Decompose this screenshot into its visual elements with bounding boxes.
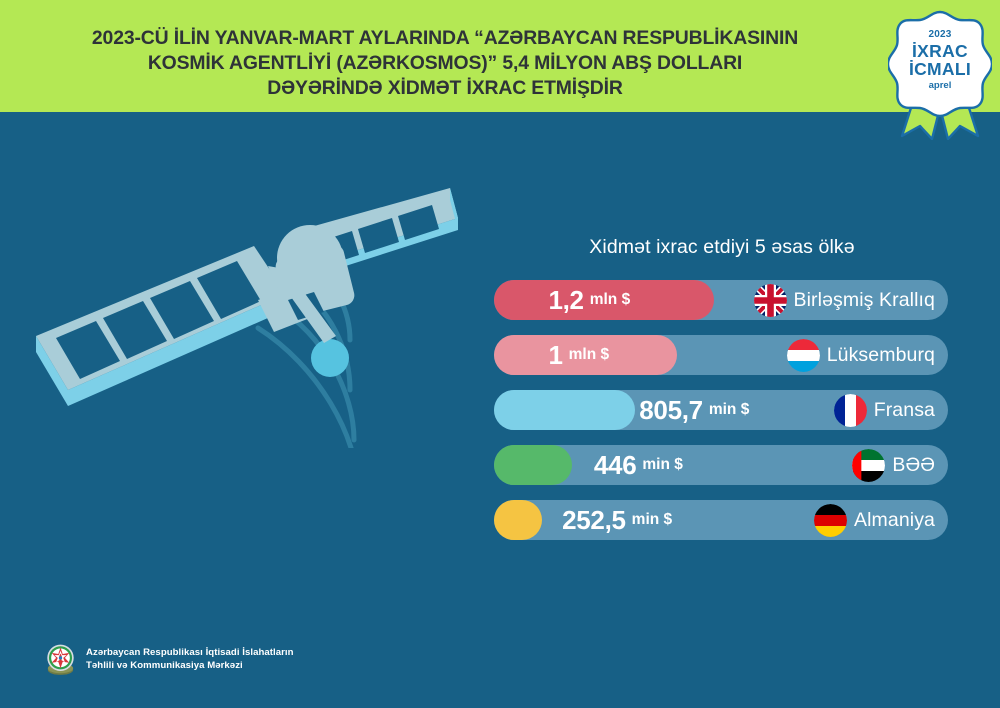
bar-row: 446 min $ BƏƏ (494, 445, 948, 485)
badge-rosette-icon (888, 8, 992, 140)
uae-flag-icon (852, 449, 885, 482)
satellite-antenna-dot (311, 339, 349, 377)
ixrac-icmali-badge: 2023 İXRAC İCMALI aprel (888, 8, 992, 140)
luxembourg-flag-icon (787, 339, 820, 372)
azerbaijan-coat-of-arms-icon (44, 643, 77, 676)
bar-country-label: Lüksemburq (787, 335, 935, 375)
bar-fill (494, 390, 635, 430)
bar-row: 1,2 mln $ Birləşmiş Krallıq (494, 280, 948, 320)
page-title: 2023-CÜ İLİN YANVAR-MART AYLARINDA “AZƏR… (30, 26, 860, 101)
bar-value-label: 446 min $ (594, 445, 683, 485)
infographic-canvas: 2023-CÜ İLİN YANVAR-MART AYLARINDA “AZƏR… (0, 0, 1000, 708)
bar-value-unit: min $ (709, 401, 749, 419)
bar-value-unit: min $ (642, 456, 682, 474)
country-name: Birləşmiş Krallıq (794, 289, 935, 312)
bar-value-label: 252,5 min $ (562, 500, 672, 540)
organisation-name: Azərbaycan Respublikası İqtisadi İslahat… (86, 647, 294, 672)
bar-value-unit: mln $ (590, 291, 630, 309)
bar-country-label: Birləşmiş Krallıq (754, 280, 935, 320)
germany-flag-icon (814, 504, 847, 537)
country-name: Lüksemburq (827, 344, 935, 367)
bar-value-unit: min $ (632, 511, 672, 529)
bar-fill (494, 445, 572, 485)
uk-flag-icon (754, 284, 787, 317)
bar-value-number: 252,5 (562, 505, 626, 536)
bar-value-label: 805,7 min $ (639, 390, 749, 430)
bar-value-label: 1 mln $ (548, 335, 609, 375)
bar-value-number: 446 (594, 450, 636, 481)
bar-row: 805,7 min $ Fransa (494, 390, 948, 430)
satellite-illustration (18, 118, 478, 448)
satellite-left-wing (36, 246, 286, 406)
bar-value-number: 805,7 (639, 395, 703, 426)
bar-value-number: 1,2 (548, 285, 583, 316)
country-name: Fransa (874, 399, 935, 422)
bar-fill (494, 500, 542, 540)
country-name: Almaniya (854, 509, 935, 532)
bar-value-label: 1,2 mln $ (548, 280, 630, 320)
country-name: BƏƏ (892, 454, 935, 477)
organisation-logo: Azərbaycan Respublikası İqtisadi İslahat… (44, 643, 294, 676)
france-flag-icon (834, 394, 867, 427)
export-chart: Xidmət ixrac etdiyi 5 əsas ölkə 1,2 mln … (494, 236, 950, 555)
bar-country-label: Fransa (834, 390, 935, 430)
bar-value-unit: mln $ (569, 346, 609, 364)
header-band: 2023-CÜ İLİN YANVAR-MART AYLARINDA “AZƏR… (0, 0, 1000, 112)
bar-row: 1 mln $ Lüksemburq (494, 335, 948, 375)
bar-country-label: Almaniya (814, 500, 935, 540)
bar-value-number: 1 (548, 340, 562, 371)
chart-title: Xidmət ixrac etdiyi 5 əsas ölkə (494, 236, 950, 259)
bar-country-label: BƏƏ (852, 445, 935, 485)
bar-row: 252,5 min $ Almaniya (494, 500, 948, 540)
